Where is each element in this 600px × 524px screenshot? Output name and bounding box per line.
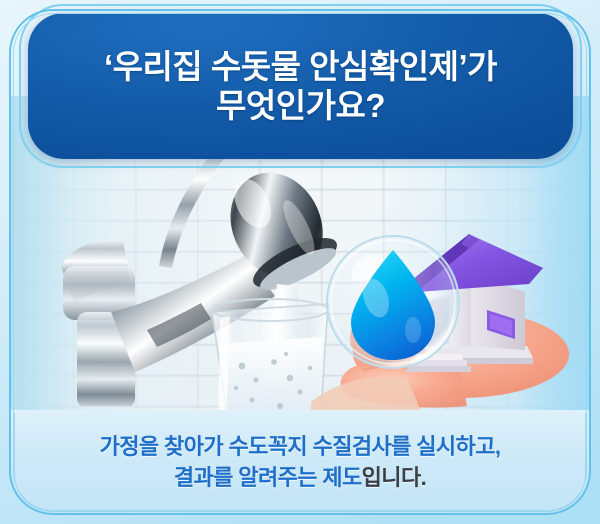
caption-line-2-dark: 입니다. (362, 465, 426, 490)
title-line-2: 무엇인가요? (216, 89, 385, 122)
caption-panel: 가정을 찾아가 수도꼭지 수질검사를 실시하고, 결과를 알려주는 제도입니다. (11, 410, 589, 515)
hand-holding-house-group (311, 206, 589, 418)
caption-line-2: 결과를 알려주는 제도입니다. (174, 464, 426, 492)
title-card: ‘우리집 수돗물 안심확인제’가 무엇인가요? (28, 13, 573, 159)
poster-root: ‘우리집 수돗물 안심확인제’가 무엇인가요? 가정을 찾아가 수도꼭지 수질검… (0, 0, 600, 524)
caption-inner-stroke (14, 413, 586, 512)
title-line-1: ‘우리집 수돗물 안심확인제’가 (104, 50, 497, 83)
caption-line-1: 가정을 찾아가 수도꼭지 수질검사를 실시하고, (100, 433, 501, 461)
caption-line-2-blue: 결과를 알려주는 제도 (174, 465, 362, 490)
